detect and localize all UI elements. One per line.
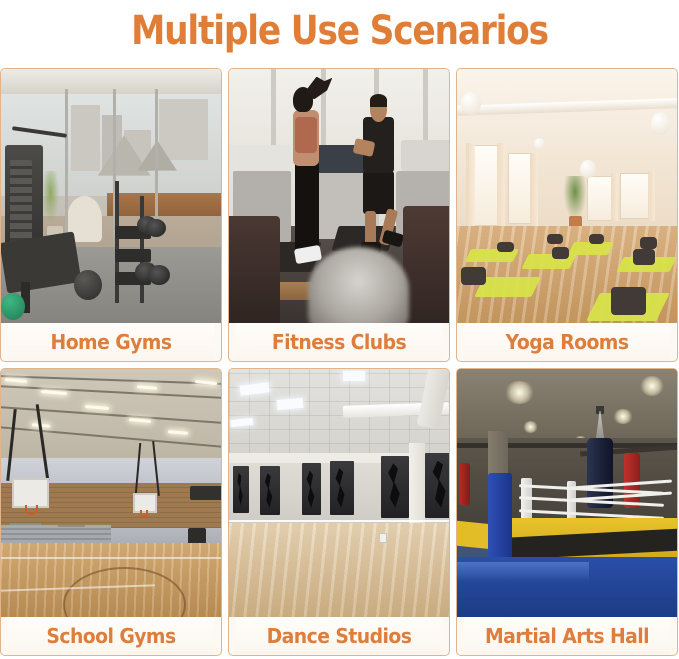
scenario-label-home-gyms: Home Gyms xyxy=(8,323,215,361)
ceiling-light-panel xyxy=(343,371,365,381)
fitness-club-photo xyxy=(229,69,449,323)
bleacher-rail xyxy=(58,525,84,527)
scenario-card-yoga-rooms[interactable]: Yoga Rooms xyxy=(456,68,678,362)
treadmill-console xyxy=(401,140,449,170)
foreground-machine xyxy=(229,216,280,323)
building xyxy=(71,105,100,171)
curtain xyxy=(466,143,475,227)
meditation-cushion xyxy=(497,242,515,252)
scenario-card-school-gyms[interactable]: School Gyms xyxy=(0,368,222,656)
wall-column xyxy=(409,443,424,522)
meditation-cushion xyxy=(633,249,655,264)
mat-highlight xyxy=(457,562,589,582)
page-title: Multiple Use Scenarios xyxy=(48,0,632,66)
weight-plate xyxy=(146,219,166,237)
scenario-label-dance-studios: Dance Studios xyxy=(236,617,443,655)
dancer-poster xyxy=(233,466,248,513)
martial-arts-hall-photo xyxy=(457,369,677,617)
scenario-card-martial-arts-hall[interactable]: Martial Arts Hall xyxy=(456,368,678,656)
scenario-label-martial-arts-hall: Martial Arts Hall xyxy=(464,617,671,655)
wall-outlet xyxy=(379,533,388,543)
yoga-room-photo xyxy=(457,69,677,323)
curtain xyxy=(497,143,506,227)
scenario-card-fitness-clubs[interactable]: Fitness Clubs xyxy=(228,68,450,362)
hanging-bag xyxy=(624,453,639,508)
home-gym-photo xyxy=(1,69,221,323)
ceiling-spotlight xyxy=(640,376,664,396)
dancer-poster xyxy=(330,461,354,516)
ceiling-spotlight xyxy=(505,381,534,403)
window-mullion xyxy=(65,89,68,236)
building xyxy=(159,99,207,160)
scenarios-infographic: Multiple Use Scenarios xyxy=(0,0,679,659)
meditation-cushion xyxy=(611,287,646,315)
wood-dance-floor xyxy=(229,523,449,617)
padded-corner-post xyxy=(488,473,512,567)
ceiling xyxy=(1,69,221,94)
meditation-cushion xyxy=(461,267,485,285)
man-hair xyxy=(370,94,388,107)
scenario-label-yoga-rooms: Yoga Rooms xyxy=(464,323,671,361)
window xyxy=(508,153,532,224)
dumbbell-shelf xyxy=(115,249,150,262)
dance-studio-photo xyxy=(229,369,449,617)
curtain xyxy=(648,171,655,222)
basketball-rim xyxy=(140,510,149,517)
medicine-ball xyxy=(74,270,103,300)
scenario-label-fitness-clubs: Fitness Clubs xyxy=(236,323,443,361)
pendant-light xyxy=(461,92,481,115)
basketball-backboard xyxy=(12,478,49,508)
yoga-mat xyxy=(521,254,577,269)
pendant-light xyxy=(534,138,545,151)
window-mullion xyxy=(155,89,158,236)
foreground-machine xyxy=(403,206,449,323)
hanging-plant xyxy=(41,171,61,227)
woman-sports-bra xyxy=(295,117,317,153)
scenario-label-school-gyms: School Gyms xyxy=(8,617,215,655)
hanging-bag xyxy=(459,463,470,505)
ceiling-spotlight xyxy=(613,409,633,424)
window xyxy=(620,173,651,219)
window xyxy=(587,176,613,222)
meditation-cushion xyxy=(640,237,658,250)
treadmill-console xyxy=(229,145,291,170)
man-shorts xyxy=(363,171,394,214)
ceiling-light-panel xyxy=(277,398,304,410)
scenario-grid: Home Gyms xyxy=(0,68,679,656)
curtain xyxy=(530,153,539,227)
scenario-card-dance-studios[interactable]: Dance Studios xyxy=(228,368,450,656)
scenario-card-home-gyms[interactable]: Home Gyms xyxy=(0,68,222,362)
school-gym-photo xyxy=(1,369,221,617)
court-line xyxy=(1,557,221,559)
curtain xyxy=(611,173,618,221)
meditation-cushion xyxy=(547,234,562,244)
weight-stack xyxy=(10,160,32,246)
scoreboard xyxy=(190,486,221,501)
potted-plant xyxy=(563,176,587,222)
bleacher-rail xyxy=(10,523,41,525)
meditation-cushion xyxy=(589,234,604,244)
woman-leggings xyxy=(295,160,319,251)
meditation-cushion xyxy=(552,247,570,260)
